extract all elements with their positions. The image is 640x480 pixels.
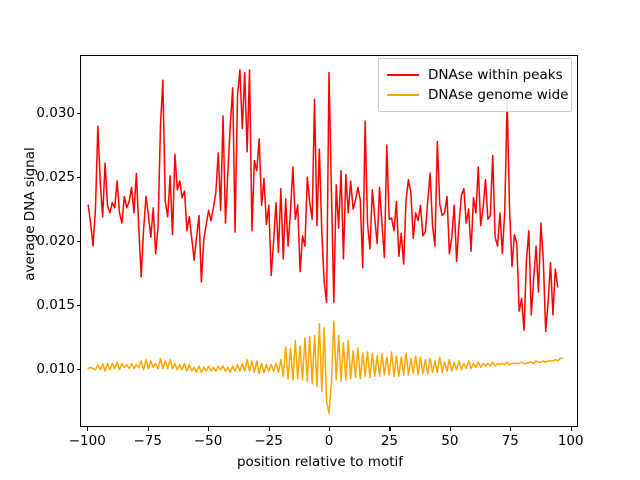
x-tick-label: 50 bbox=[441, 433, 458, 449]
legend-label-within-peaks: DNAse within peaks bbox=[428, 67, 563, 83]
legend-swatch-orange bbox=[387, 94, 419, 96]
x-tick-mark bbox=[571, 427, 572, 431]
y-tick-mark bbox=[77, 113, 81, 114]
line-dnase-genome-wide bbox=[88, 321, 562, 413]
matplotlib-figure: DNAse within peaks DNAse genome wide −10… bbox=[0, 0, 640, 480]
y-tick-label: 0.020 bbox=[36, 233, 75, 249]
x-tick-label: −75 bbox=[133, 433, 162, 449]
x-tick-mark bbox=[510, 427, 511, 431]
x-tick-label: 75 bbox=[502, 433, 519, 449]
y-tick-mark bbox=[77, 305, 81, 306]
y-tick-mark bbox=[77, 241, 81, 242]
x-tick-label: 100 bbox=[558, 433, 584, 449]
x-tick-mark bbox=[87, 427, 88, 431]
x-tick-label: −50 bbox=[194, 433, 223, 449]
legend-swatch-red bbox=[387, 74, 419, 76]
x-axis-label: position relative to motif bbox=[0, 454, 640, 470]
x-tick-label: −100 bbox=[69, 433, 106, 449]
x-tick-mark bbox=[389, 427, 390, 431]
x-tick-label: 25 bbox=[381, 433, 398, 449]
x-tick-label: −25 bbox=[254, 433, 283, 449]
y-tick-label: 0.030 bbox=[36, 105, 75, 121]
legend-item-within-peaks: DNAse within peaks bbox=[387, 65, 563, 85]
y-tick-label: 0.025 bbox=[36, 169, 75, 185]
y-tick-label: 0.010 bbox=[36, 361, 75, 377]
y-tick-mark bbox=[77, 177, 81, 178]
x-tick-mark bbox=[329, 427, 330, 431]
legend-item-genome-wide: DNAse genome wide bbox=[387, 85, 563, 105]
y-tick-label: 0.015 bbox=[36, 297, 75, 313]
x-tick-mark bbox=[208, 427, 209, 431]
x-tick-label: 0 bbox=[325, 433, 334, 449]
x-tick-mark bbox=[269, 427, 270, 431]
plot-axes: DNAse within peaks DNAse genome wide bbox=[80, 55, 578, 427]
x-tick-mark bbox=[148, 427, 149, 431]
legend-label-genome-wide: DNAse genome wide bbox=[428, 87, 568, 103]
y-tick-mark bbox=[77, 369, 81, 370]
y-axis-label: average DNA signal bbox=[22, 104, 38, 324]
x-tick-mark bbox=[450, 427, 451, 431]
legend: DNAse within peaks DNAse genome wide bbox=[378, 58, 572, 112]
